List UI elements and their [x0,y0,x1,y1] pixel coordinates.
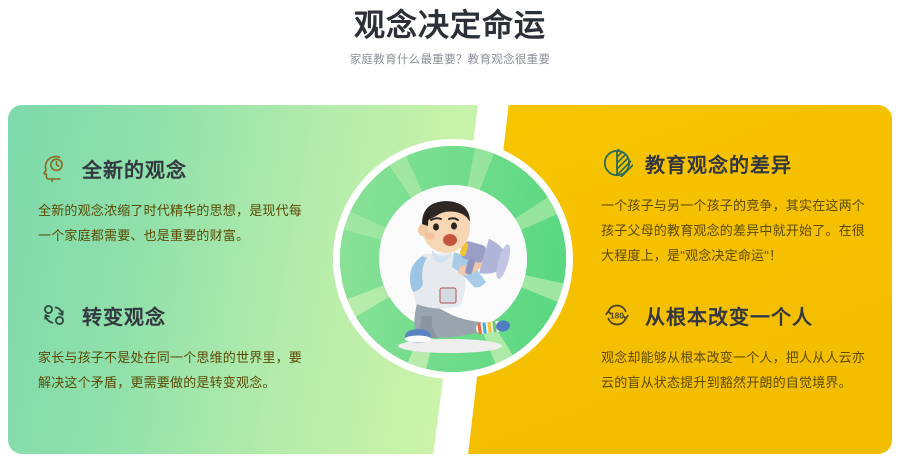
page-title: 观念决定命运 [0,0,900,46]
page-subtitle: 家庭教育什么最重要？教育观念很重要 [0,46,900,68]
right-item-2-header: 180 从根本改变一个人 [601,297,877,333]
left-item-2-title: 转变观念 [82,301,166,330]
right-item-1-body: 一个孩子与另一个孩子的竞争，其实在这两个孩子父母的教育观念的差异中就开始了。在很… [601,193,873,268]
left-item-1-body: 全新的观念浓缩了时代精华的思想，是现代每一个家庭都需要、也是重要的财富。 [38,198,310,248]
left-item-2[interactable]: 转变观念 家长与孩子不是处在同一个思维的世界里，要解决这个矛盾，更需要做的是转变… [38,297,314,395]
left-item-1-title: 全新的观念 [82,154,187,183]
left-item-2-header: 转变观念 [38,297,314,333]
rotate-180-icon: 180 [601,299,633,331]
left-item-2-body: 家长与孩子不是处在同一个思维的世界里，要解决这个矛盾，更需要做的是转变观念。 [38,345,310,395]
right-item-2[interactable]: 180 从根本改变一个人 观念却能够从根本改变一个人，把人从人云亦云的盲从状态提… [601,297,877,395]
head-clock-icon [38,152,70,184]
right-item-2-title: 从根本改变一个人 [645,301,813,330]
left-item-1[interactable]: 全新的观念 全新的观念浓缩了时代精华的思想，是现代每一个家庭都需要、也是重要的财… [38,150,314,248]
transform-circles-icon [38,299,70,331]
boy-with-megaphone-photo [388,196,520,356]
rotate-180-icon-label: 180 [610,310,624,320]
half-filled-circle-icon [601,147,633,179]
right-item-2-body: 观念却能够从根本改变一个人，把人从人云亦云的盲从状态提升到豁然开朗的自觉境界。 [601,345,873,395]
right-item-1-header: 教育观念的差异 [601,145,877,181]
right-item-1[interactable]: 教育观念的差异 一个孩子与另一个孩子的竞争，其实在这两个孩子父母的教育观念的差异… [601,145,877,268]
right-item-1-title: 教育观念的差异 [645,149,792,178]
left-item-1-header: 全新的观念 [38,150,314,186]
page-header: 观念决定命运 家庭教育什么最重要？教育观念很重要 [0,0,900,92]
